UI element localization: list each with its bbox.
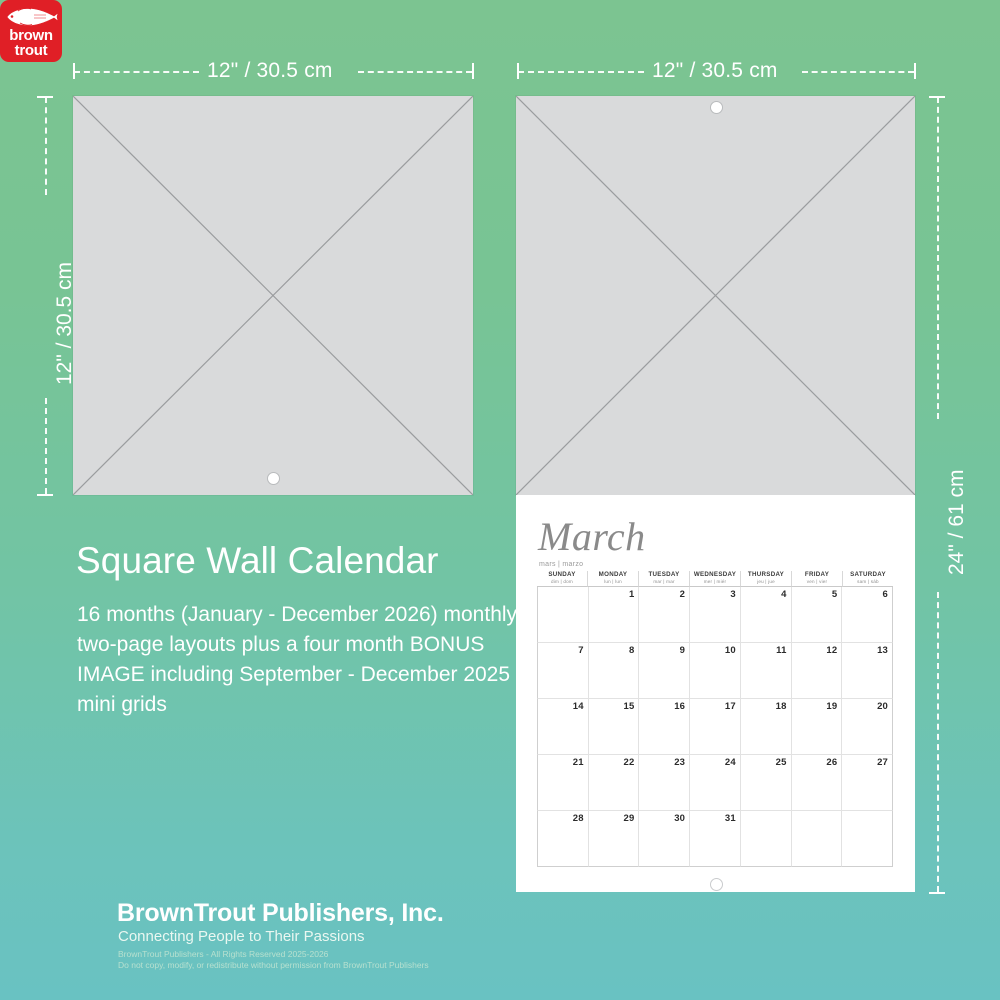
day-number: 7 <box>578 645 583 656</box>
calendar-day-cell[interactable] <box>740 811 791 867</box>
calendar-day-cell[interactable] <box>791 811 842 867</box>
punch-hole <box>267 472 280 485</box>
calendar-day-cell[interactable]: 29 <box>588 811 639 867</box>
brand-tagline: Connecting People to Their Passions <box>118 928 365 945</box>
dim-line-left-a <box>45 97 47 195</box>
weekday-abbr: sam | sáb <box>843 579 893 584</box>
calendar-day-cell[interactable]: 17 <box>689 699 740 755</box>
weekday-name: SUNDAY <box>537 571 587 578</box>
calendar-day-cell[interactable]: 14 <box>537 699 588 755</box>
weekday-abbr: lun | lun <box>588 579 638 584</box>
calendar-week-row: 28 29 30 31 <box>537 811 893 867</box>
dim-cap-right-bottom <box>929 892 945 894</box>
weekday-abbr: mar | mar <box>639 579 689 584</box>
dim-cap-left-bottom <box>37 494 53 496</box>
placeholder-cross-icon <box>516 96 915 495</box>
weekday-name: FRIDAY <box>792 571 842 578</box>
calendar-day-cell[interactable] <box>537 587 588 643</box>
weekday-header-wednesday: WEDNESDAY mer | miér <box>689 571 740 587</box>
day-number: 11 <box>776 645 786 656</box>
day-number: 24 <box>725 757 736 768</box>
dim-line-right-a <box>937 97 939 419</box>
dim-cap-top-right-end <box>914 63 916 79</box>
weekday-header-monday: MONDAY lun | lun <box>587 571 638 587</box>
calendar-month-title: March <box>538 513 646 560</box>
dim-line-right-b <box>937 592 939 892</box>
calendar-day-cell[interactable]: 16 <box>638 699 689 755</box>
punch-hole <box>710 878 723 891</box>
calendar-day-cell[interactable]: 18 <box>740 699 791 755</box>
day-number: 18 <box>776 701 787 712</box>
calendar-day-cell[interactable]: 22 <box>588 755 639 811</box>
calendar-week-row: 14 15 16 17 18 19 20 <box>537 699 893 755</box>
day-number: 4 <box>781 589 786 600</box>
calendar-day-cell[interactable]: 25 <box>740 755 791 811</box>
dim-cap-top-left-end <box>472 63 474 79</box>
page-title: Square Wall Calendar <box>76 540 439 582</box>
day-number: 12 <box>826 645 837 656</box>
calendar-day-cell[interactable]: 7 <box>537 643 588 699</box>
calendar-day-cell[interactable]: 5 <box>791 587 842 643</box>
dim-line-left-b <box>45 398 47 494</box>
calendar-day-cell[interactable]: 28 <box>537 811 588 867</box>
calendar-day-cell[interactable]: 1 <box>588 587 639 643</box>
calendar-day-cell[interactable]: 31 <box>689 811 740 867</box>
calendar-day-cell[interactable]: 27 <box>841 755 893 811</box>
placeholder-cross-icon <box>73 96 473 495</box>
weekday-abbr: mer | miér <box>690 579 740 584</box>
day-number: 19 <box>826 701 837 712</box>
product-description: 16 months (January - December 2026) mont… <box>77 600 527 720</box>
day-number: 2 <box>680 589 685 600</box>
calendar-top-image-panel <box>516 96 915 495</box>
day-number: 3 <box>730 589 735 600</box>
day-number: 5 <box>832 589 837 600</box>
calendar-day-cell[interactable]: 6 <box>841 587 893 643</box>
product-preview-stage: 12" / 30.5 cm 12" / 30.5 cm 12" / 30.5 c… <box>0 0 1000 1000</box>
calendar-day-cell[interactable]: 8 <box>588 643 639 699</box>
weekday-abbr: jeu | jue <box>741 579 791 584</box>
weekday-name: WEDNESDAY <box>690 571 740 578</box>
calendar-day-cell[interactable] <box>841 811 893 867</box>
legal-line-1: BrownTrout Publishers - All Rights Reser… <box>118 949 328 960</box>
day-number: 20 <box>877 701 888 712</box>
day-number: 26 <box>826 757 837 768</box>
calendar-day-cell[interactable]: 10 <box>689 643 740 699</box>
dim-label-top-right: 12" / 30.5 cm <box>652 59 778 83</box>
calendar-day-cell[interactable]: 24 <box>689 755 740 811</box>
calendar-day-cell[interactable]: 3 <box>689 587 740 643</box>
weekday-abbr: ven | vier <box>792 579 842 584</box>
weekday-header-friday: FRIDAY ven | vier <box>791 571 842 587</box>
calendar-week-row: 21 22 23 24 25 26 27 <box>537 755 893 811</box>
day-number: 8 <box>629 645 634 656</box>
calendar-day-cell[interactable]: 4 <box>740 587 791 643</box>
day-number: 22 <box>623 757 634 768</box>
calendar-day-cell[interactable]: 9 <box>638 643 689 699</box>
weekday-header-saturday: SATURDAY sam | sáb <box>842 571 893 587</box>
weekday-abbr: dim | dom <box>537 579 587 584</box>
calendar-month-subtitle: mars | marzo <box>539 561 583 568</box>
day-number: 29 <box>623 813 634 824</box>
dim-label-right: 24" / 61 cm <box>945 469 969 575</box>
logo-wordmark: brown trout <box>0 28 62 58</box>
calendar-weekday-header-row: SUNDAY dim | dom MONDAY lun | lun TUESDA… <box>537 571 893 587</box>
day-number: 15 <box>623 701 634 712</box>
day-number: 28 <box>573 813 584 824</box>
calendar-week-row: 1 2 3 4 5 6 <box>537 587 893 643</box>
calendar-day-cell[interactable]: 12 <box>791 643 842 699</box>
day-number: 10 <box>725 645 736 656</box>
day-number: 25 <box>776 757 787 768</box>
calendar-grid-page: March mars | marzo SUNDAY dim | dom MOND… <box>516 495 915 892</box>
calendar-week-row: 7 8 9 10 11 12 13 <box>537 643 893 699</box>
day-number: 16 <box>674 701 685 712</box>
day-number: 9 <box>680 645 685 656</box>
day-number: 27 <box>877 757 888 768</box>
weekday-name: MONDAY <box>588 571 638 578</box>
brand-name: BrownTrout Publishers, Inc. <box>117 899 444 928</box>
dim-line-top-right-a <box>518 71 644 73</box>
calendar-day-cell[interactable]: 21 <box>537 755 588 811</box>
calendar-day-cell[interactable]: 26 <box>791 755 842 811</box>
weekday-name: TUESDAY <box>639 571 689 578</box>
dim-line-top-left-a <box>74 71 199 73</box>
day-number: 14 <box>573 701 584 712</box>
day-number: 31 <box>725 813 736 824</box>
day-number: 17 <box>725 701 736 712</box>
day-number: 30 <box>674 813 685 824</box>
calendar-day-cell[interactable]: 11 <box>740 643 791 699</box>
dim-line-top-right-b <box>802 71 914 73</box>
weekday-header-sunday: SUNDAY dim | dom <box>537 571 587 587</box>
weekday-name: THURSDAY <box>741 571 791 578</box>
calendar-day-cell[interactable]: 20 <box>841 699 893 755</box>
calendar-day-cell[interactable]: 13 <box>841 643 893 699</box>
day-number: 1 <box>629 589 634 600</box>
calendar-grid: SUNDAY dim | dom MONDAY lun | lun TUESDA… <box>537 571 893 867</box>
day-number: 21 <box>573 757 584 768</box>
calendar-day-cell[interactable]: 2 <box>638 587 689 643</box>
weekday-header-thursday: THURSDAY jeu | jue <box>740 571 791 587</box>
dim-line-top-left-b <box>358 71 472 73</box>
weekday-name: SATURDAY <box>843 571 893 578</box>
calendar-day-cell[interactable]: 15 <box>588 699 639 755</box>
calendar-day-cell[interactable]: 23 <box>638 755 689 811</box>
legal-line-2: Do not copy, modify, or redistribute wit… <box>118 960 429 971</box>
browntrout-logo[interactable]: brown trout <box>0 0 62 62</box>
calendar-day-cell[interactable]: 19 <box>791 699 842 755</box>
trout-fish-icon <box>4 5 58 29</box>
day-number: 23 <box>674 757 685 768</box>
cover-image-panel <box>73 96 473 495</box>
dim-label-top-left: 12" / 30.5 cm <box>207 59 333 83</box>
logo-word-bottom: trout <box>15 42 48 59</box>
day-number: 13 <box>877 645 888 656</box>
calendar-day-cell[interactable]: 30 <box>638 811 689 867</box>
day-number: 6 <box>883 589 888 600</box>
weekday-header-tuesday: TUESDAY mar | mar <box>638 571 689 587</box>
punch-hole <box>710 101 723 114</box>
